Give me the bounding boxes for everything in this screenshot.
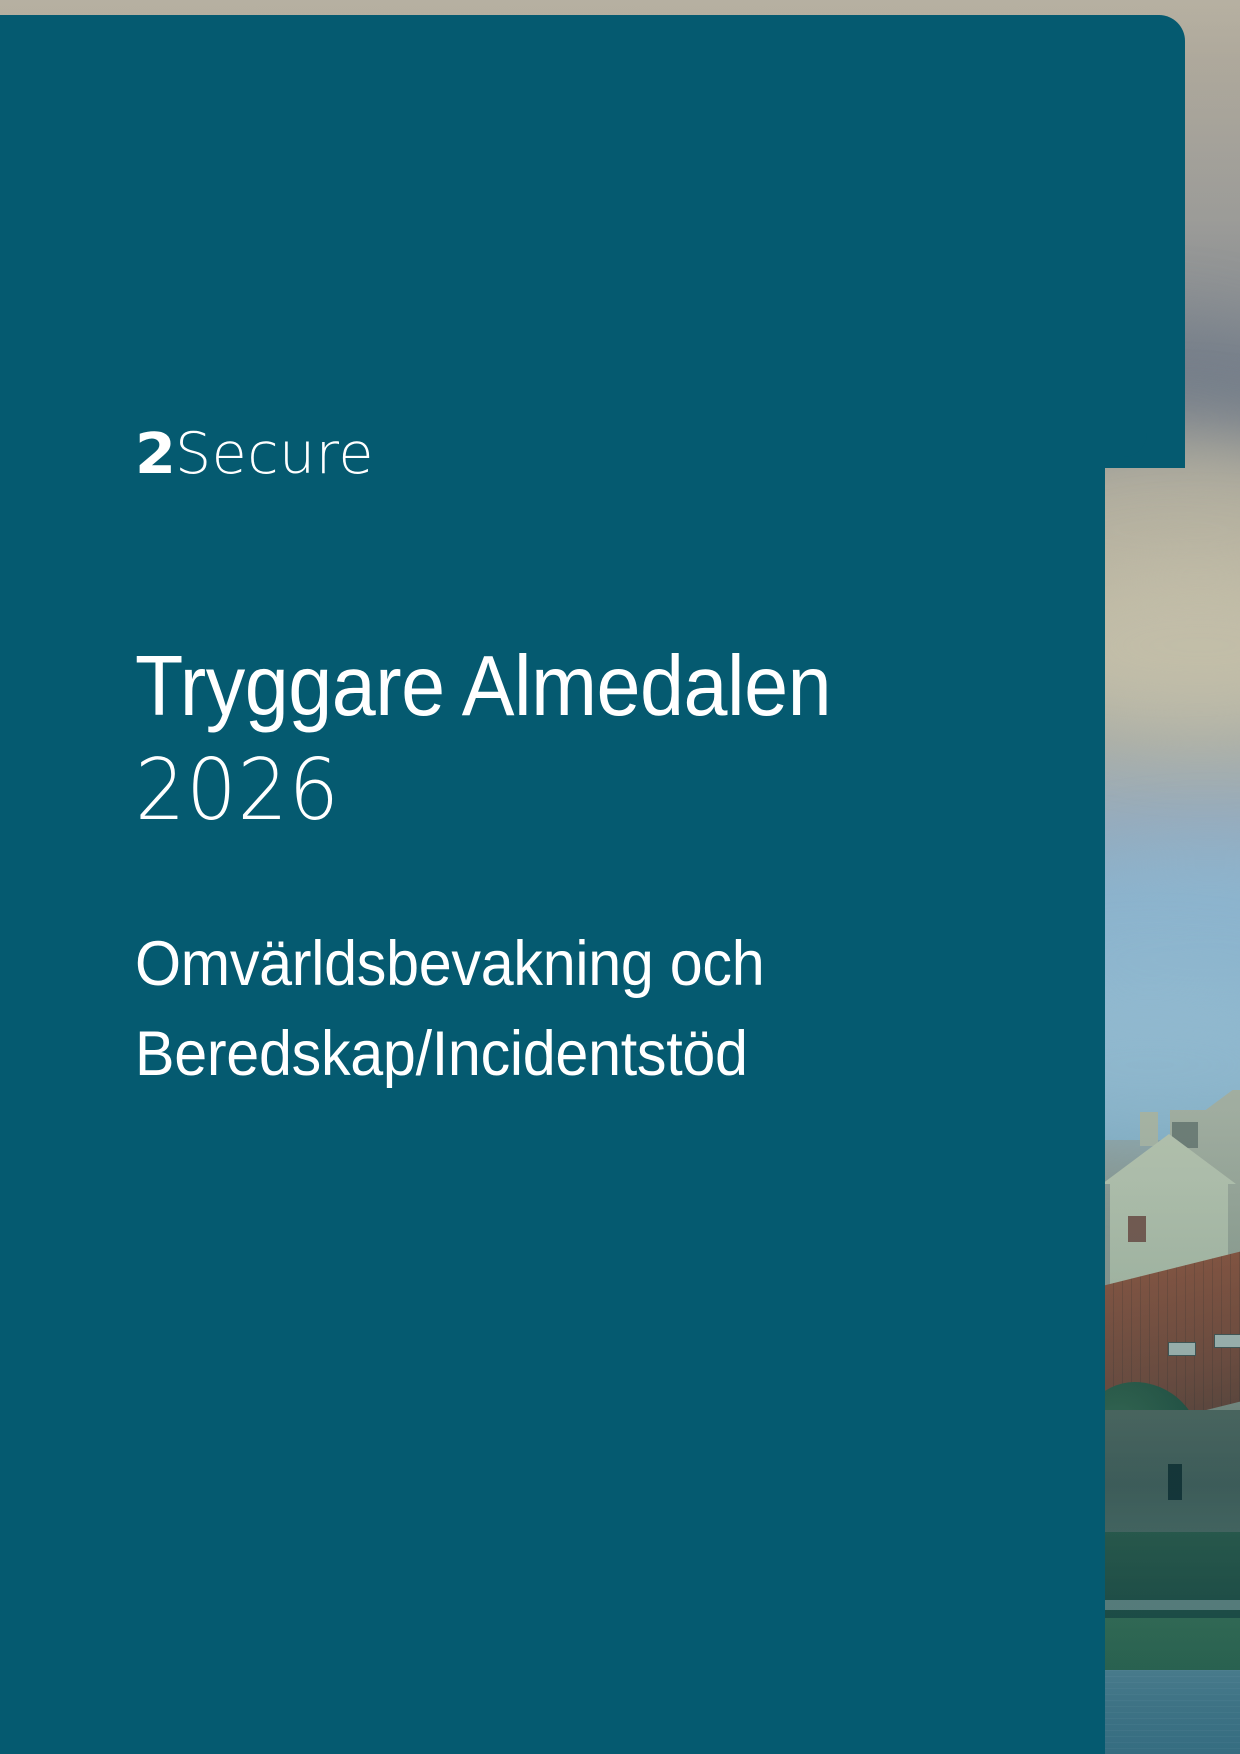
brand-logo-word: Secure bbox=[175, 426, 374, 483]
cover-subtitle: Omvärldsbevakning och Beredskap/Incident… bbox=[135, 920, 915, 1099]
brand-logo: 2Secure bbox=[135, 426, 374, 483]
cover-subtitle-line-1: Omvärldsbevakning och bbox=[135, 920, 915, 1009]
cover-title-line-1: Tryggare Almedalen bbox=[135, 635, 870, 739]
cover-page: 2Secure Tryggare Almedalen 2026 Omvärlds… bbox=[0, 0, 1240, 1754]
cover-title-line-2: 2026 bbox=[135, 739, 870, 843]
brand-logo-mark: 2 bbox=[135, 427, 175, 483]
cover-subtitle-line-2: Beredskap/Incidentstöd bbox=[135, 1010, 915, 1099]
cover-title: Tryggare Almedalen 2026 bbox=[135, 635, 870, 842]
brand-panel bbox=[0, 15, 1185, 1754]
